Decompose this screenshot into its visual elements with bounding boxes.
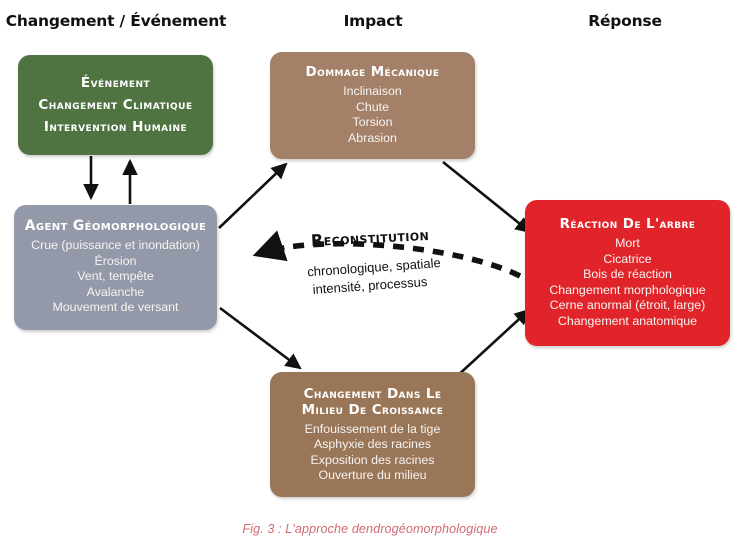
node-reaction-item: Cicatrice xyxy=(603,252,651,268)
node-milieu-title: Changement dans le milieu de croissance xyxy=(302,386,444,418)
node-reaction-title: Réaction de l'arbre xyxy=(560,217,696,232)
node-agent-item: Crue (puissance et inondation) xyxy=(31,238,200,254)
node-milieu-item: Ouverture du milieu xyxy=(318,468,426,484)
arrow-agent-to-milieu xyxy=(220,308,300,368)
node-evenement-line-2: Changement climatique xyxy=(38,94,192,116)
node-agent-title: Agent géomorphologique xyxy=(25,219,206,234)
node-milieu-item: Asphyxie des racines xyxy=(314,437,431,453)
column-header-reponse: Réponse xyxy=(520,12,730,30)
node-dommage-item: Torsion xyxy=(353,115,393,131)
node-dommage-item: Inclinaison xyxy=(343,84,402,100)
node-milieu-item: Enfouissement de la tige xyxy=(305,422,441,438)
column-header-impact: Impact xyxy=(270,12,476,30)
node-evenement-line-3: Intervention humaine xyxy=(44,116,187,138)
node-agent-item: Avalanche xyxy=(87,285,145,301)
node-agent-item: Vent, tempête xyxy=(77,269,153,285)
arrow-reconstitution-dashed xyxy=(258,244,520,276)
node-reaction-item: Changement anatomique xyxy=(558,314,697,330)
node-dommage-item: Abrasion xyxy=(348,131,397,147)
node-dommage-title: Dommage mécanique xyxy=(306,65,440,80)
arrow-dommage-to-reaction xyxy=(443,162,530,232)
figure-caption: Fig. 3 : L'approche dendrogéomorphologiq… xyxy=(0,522,740,536)
node-agent-item: Mouvement de versant xyxy=(52,300,178,316)
arrow-agent-to-dommage xyxy=(219,164,286,228)
node-reaction-item: Changement morphologique xyxy=(549,283,705,299)
node-agent-item: Érosion xyxy=(94,254,136,270)
node-dommage-item: Chute xyxy=(356,100,389,116)
node-reaction-item: Cerne anormal (étroit, large) xyxy=(550,298,706,314)
node-milieu-item: Exposition des racines xyxy=(311,453,435,469)
node-evenement[interactable]: Événement Changement climatique Interven… xyxy=(18,55,213,155)
arrow-milieu-to-reaction xyxy=(455,310,529,378)
node-reaction-arbre[interactable]: Réaction de l'arbre Mort Cicatrice Bois … xyxy=(525,200,730,346)
node-changement-milieu-croissance[interactable]: Changement dans le milieu de croissance … xyxy=(270,372,475,497)
column-header-changement-evenement: Changement / Événement xyxy=(0,12,232,30)
node-evenement-line-1: Événement xyxy=(81,72,150,94)
node-reaction-item: Bois de réaction xyxy=(583,267,672,283)
node-agent-geomorphologique[interactable]: Agent géomorphologique Crue (puissance e… xyxy=(14,205,217,330)
node-reaction-item: Mort xyxy=(615,236,640,252)
node-dommage-mecanique[interactable]: Dommage mécanique Inclinaison Chute Tors… xyxy=(270,52,475,159)
